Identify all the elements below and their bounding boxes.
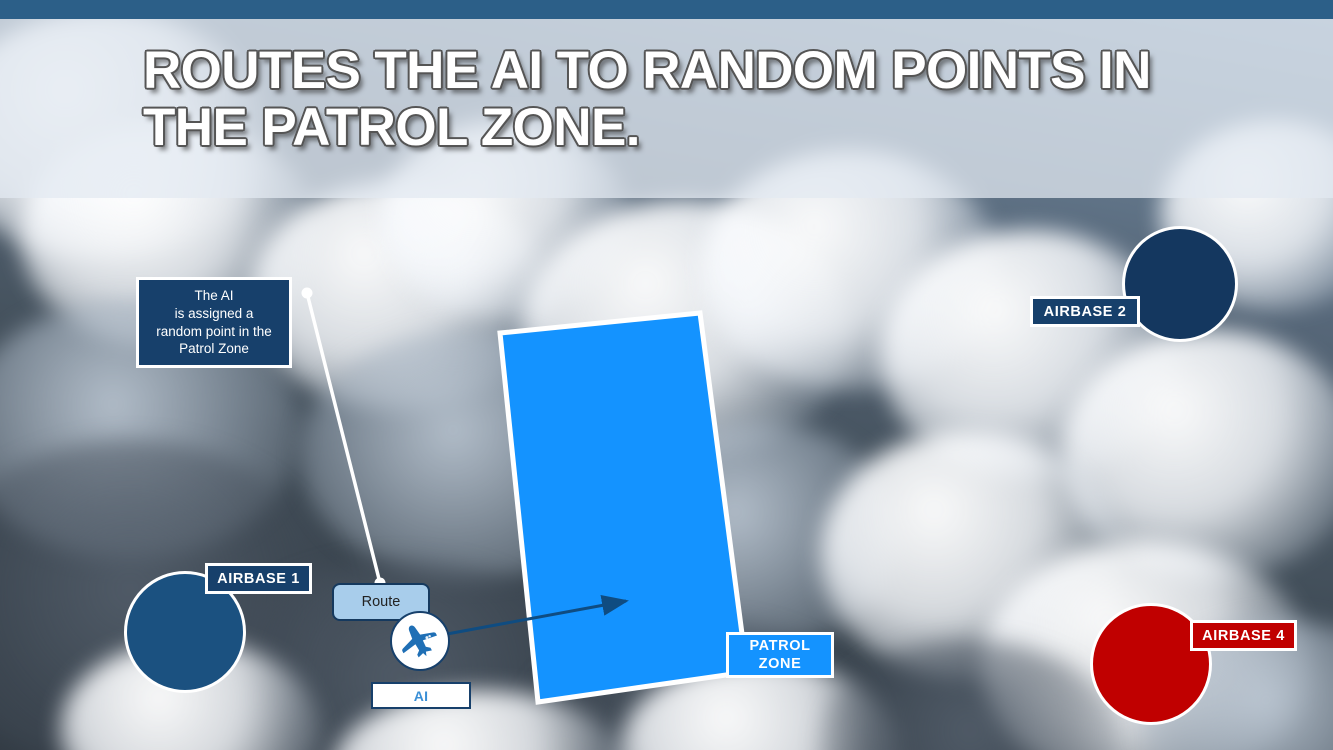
slide-canvas: Routes the AI to random points in the pa… bbox=[0, 0, 1333, 750]
patrol-zone-polygon bbox=[500, 313, 747, 702]
airbase-2-label[interactable]: AIRBASE 2 bbox=[1030, 296, 1140, 327]
patrol-zone-label-line1: PATROL bbox=[749, 637, 810, 655]
airbase-1-label[interactable]: AIRBASE 1 bbox=[205, 563, 312, 594]
random-point-callout[interactable]: The AI is assigned a random point in the… bbox=[136, 277, 292, 368]
airbase-4-label[interactable]: AIRBASE 4 bbox=[1190, 620, 1297, 651]
fighter-jet-icon[interactable] bbox=[390, 611, 450, 671]
patrol-zone-shape[interactable] bbox=[488, 300, 764, 720]
fighter-jet-glyph bbox=[398, 619, 442, 663]
patrol-zone-label-line2: ZONE bbox=[759, 655, 802, 673]
ai-unit-label[interactable]: AI bbox=[371, 682, 471, 709]
patrol-zone-label[interactable]: PATROL ZONE bbox=[726, 632, 834, 678]
diagram-layer: AIRBASE 1 AIRBASE 2 AIRBASE 4 PATROL ZON… bbox=[0, 0, 1333, 750]
